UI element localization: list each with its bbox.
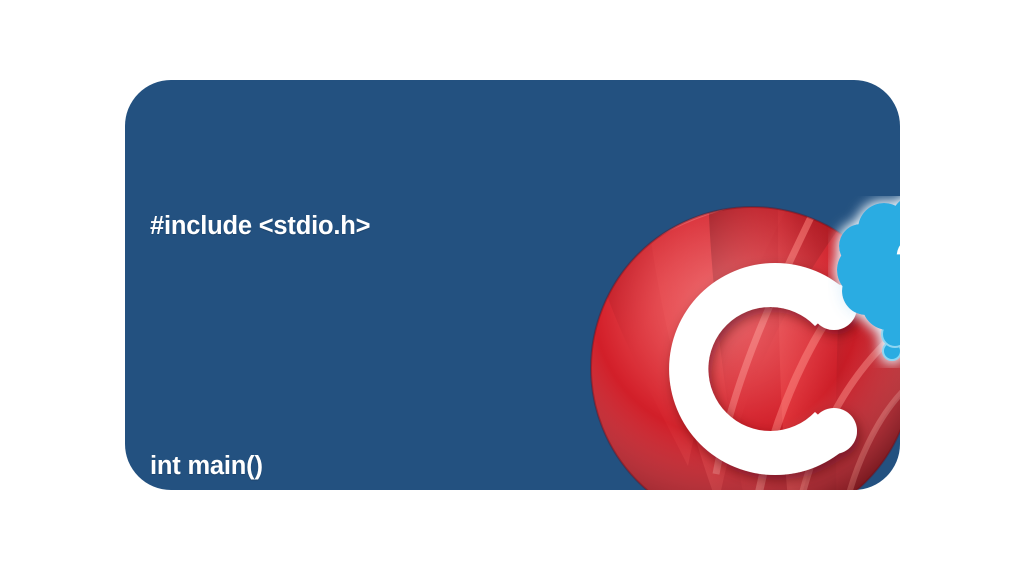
code-block: #include <stdio.h> int main() { printf("… <box>150 126 580 490</box>
code-line-include: #include <stdio.h> <box>150 206 580 246</box>
code-line-blank-1 <box>150 326 580 366</box>
thought-bubble-cloud <box>837 196 900 360</box>
question-mark-glyph: ? <box>893 221 900 312</box>
code-line-main: int main() <box>150 446 580 486</box>
code-panel: #include <stdio.h> int main() { printf("… <box>125 80 900 490</box>
thought-bubble: ? <box>828 196 900 368</box>
image-canvas: #include <stdio.h> int main() { printf("… <box>0 0 1024 576</box>
